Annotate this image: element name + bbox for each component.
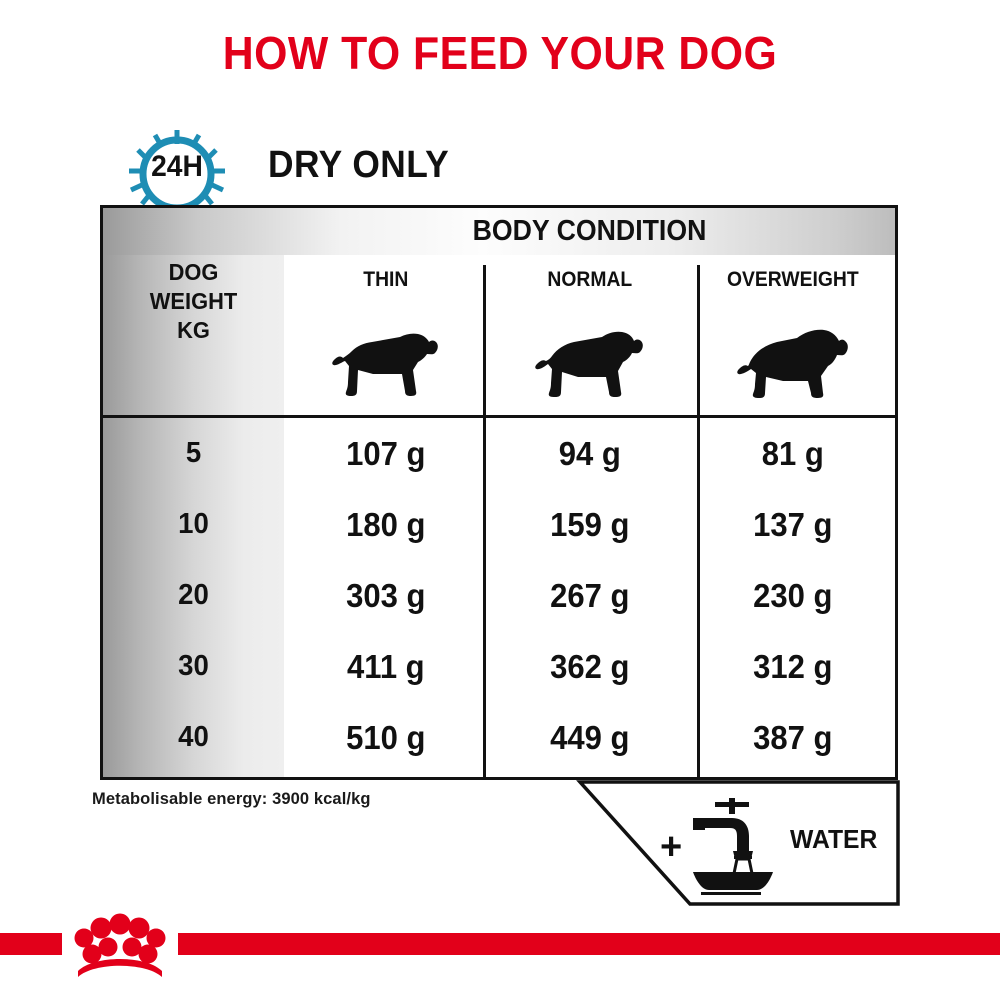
brand-bar-left <box>0 933 62 955</box>
body-condition-header: BODY CONDITION <box>308 208 870 255</box>
cell-overweight: 81 g <box>697 435 888 473</box>
page-title: HOW TO FEED YOUR DOG <box>35 26 965 80</box>
water-callout: + WATER <box>560 778 900 910</box>
feeding-mode-row: 24H DRY ONLY <box>100 128 900 206</box>
feeding-table: BODY CONDITION DOG WEIGHT KG THIN NORMAL <box>100 205 898 780</box>
cell-overweight: 387 g <box>697 719 888 757</box>
cell-thin: 303 g <box>290 577 481 615</box>
cell-overweight: 312 g <box>697 648 888 686</box>
condition-header-row: THIN NORMAL OVERWEIGHT <box>284 255 895 418</box>
dog-overweight-icon <box>691 301 895 411</box>
dog-weight-header-line-3: KG <box>108 316 280 345</box>
dog-weight-header: DOG WEIGHT KG <box>108 258 280 345</box>
plus-sign: + <box>660 828 682 866</box>
faucet-water-bowl-icon <box>685 796 777 896</box>
cell-normal: 362 g <box>494 648 685 686</box>
water-label: WATER <box>790 824 877 855</box>
cell-dog-weight: 10 <box>108 508 280 541</box>
feeding-mode-label: DRY ONLY <box>268 144 449 187</box>
condition-header-normal: NORMAL <box>488 255 692 418</box>
cell-dog-weight: 40 <box>108 721 280 754</box>
cell-dog-weight: 30 <box>108 650 280 683</box>
table-row: 20 303 g 267 g 230 g <box>103 560 895 631</box>
metabolisable-energy-note: Metabolisable energy: 3900 kcal/kg <box>92 790 371 809</box>
cell-normal: 267 g <box>494 577 685 615</box>
condition-header-overweight: OVERWEIGHT <box>691 255 895 418</box>
table-row: 10 180 g 159 g 137 g <box>103 489 895 560</box>
condition-label-normal: NORMAL <box>496 268 683 292</box>
table-row: 30 411 g 362 g 312 g <box>103 631 895 702</box>
cell-overweight: 137 g <box>697 506 888 544</box>
table-row: 40 510 g 449 g 387 g <box>103 702 895 773</box>
dog-thin-icon <box>284 301 488 411</box>
cell-thin: 411 g <box>290 648 481 686</box>
cell-dog-weight: 5 <box>108 437 280 470</box>
brand-bar-right <box>178 933 1000 955</box>
cell-normal: 449 g <box>494 719 685 757</box>
cell-thin: 107 g <box>290 435 481 473</box>
dog-weight-header-line-1: DOG <box>108 258 280 287</box>
condition-header-thin: THIN <box>284 255 488 418</box>
24h-clock-icon: 24H <box>118 128 236 206</box>
feeding-guide-page: HOW TO FEED YOUR DOG <box>0 0 1000 1000</box>
cell-dog-weight: 20 <box>108 579 280 612</box>
dog-normal-icon <box>488 301 692 411</box>
dog-weight-header-line-2: WEIGHT <box>108 287 280 316</box>
cell-thin: 510 g <box>290 719 481 757</box>
body-condition-band: BODY CONDITION <box>103 208 895 255</box>
cell-thin: 180 g <box>290 506 481 544</box>
royal-canin-crown-logo <box>60 905 180 981</box>
cell-overweight: 230 g <box>697 577 888 615</box>
table-row: 5 107 g 94 g 81 g <box>103 418 895 489</box>
table-body: 5 107 g 94 g 81 g 10 180 g 159 g 137 g 2… <box>103 418 895 777</box>
condition-label-thin: THIN <box>292 268 479 292</box>
cell-normal: 159 g <box>494 506 685 544</box>
cell-normal: 94 g <box>494 435 685 473</box>
condition-label-overweight: OVERWEIGHT <box>699 268 886 292</box>
clock-label: 24H <box>122 150 233 184</box>
